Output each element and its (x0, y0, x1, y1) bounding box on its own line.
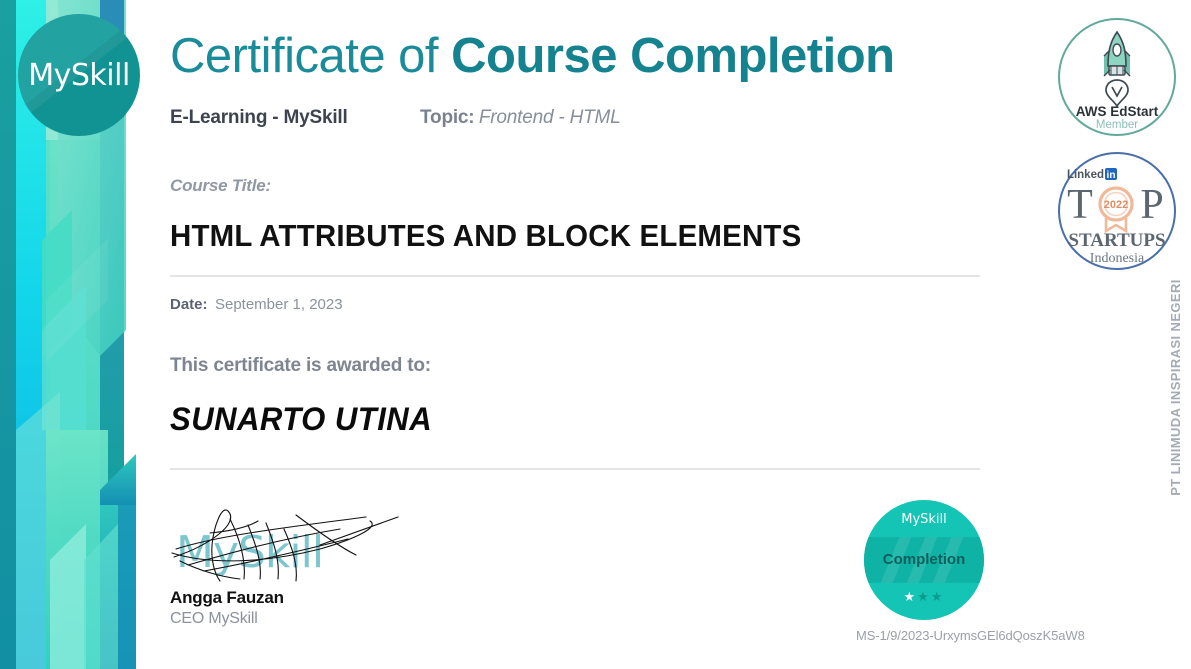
subtitle-row: E-Learning - MySkill Topic: Frontend - H… (170, 107, 621, 135)
myskill-logo: MySkill (18, 14, 140, 136)
seal-label: Completion (864, 551, 984, 568)
startups-word: STARTUPS (1068, 230, 1165, 251)
divider-upper (170, 275, 980, 277)
seal-brand: MySkill (864, 512, 984, 527)
course-title-label: Course Title: (170, 176, 271, 196)
linkedin-top-startups-badge: Linked in T P 2022 STARTUPS Indonesia (1058, 152, 1176, 270)
page-title: Certificate of Course Completion (170, 26, 895, 86)
awarded-to-label: This certificate is awarded to: (170, 355, 431, 377)
date-value: September 1, 2023 (215, 296, 343, 313)
certificate-canvas: MySkill Certificate of Course Completion… (0, 0, 1191, 669)
company-vertical-text: PT LINIMUDA INSPIRASI NEGERI (1161, 0, 1189, 669)
logo-text: MySkill (28, 58, 130, 93)
provider-label: E-Learning - MySkill (170, 107, 348, 128)
aws-edstart-badge: AWS EdStart Member (1058, 18, 1176, 136)
signature-block: MySkill (170, 505, 500, 628)
certificate-id: MS-1/9/2023-UrxymsGEl6dQoszK5aW8 (856, 628, 1106, 643)
rosette-year: 2022 (1104, 199, 1128, 211)
rocket-icon (1104, 32, 1130, 106)
date-row: Date: September 1, 2023 (170, 296, 343, 314)
svg-text:in: in (1107, 170, 1116, 181)
course-title-value: HTML ATTRIBUTES AND BLOCK ELEMENTS (170, 218, 801, 254)
completion-seal-wrap: MySkill Completion ★★★ MS-1/9/2023-Urxym… (856, 500, 1106, 643)
completion-seal: MySkill Completion ★★★ (864, 500, 984, 620)
star-empty-icon: ★ (917, 589, 931, 604)
page-title-bold: Course Completion (451, 29, 894, 83)
country-word: Indonesia (1090, 251, 1145, 266)
star-empty-icon: ★ (931, 589, 945, 604)
top-letter-t: T (1067, 182, 1093, 228)
star-filled-icon: ★ (904, 589, 918, 604)
topic-label: Topic: (420, 107, 474, 128)
signature-artwork: MySkill (170, 505, 430, 585)
company-name: PT LINIMUDA INSPIRASI NEGERI (1168, 279, 1183, 496)
seal-star-rating: ★★★ (864, 589, 984, 605)
linkedin-wordmark: Linked (1067, 169, 1104, 181)
date-label: Date: (170, 296, 208, 313)
recipient-name: SUNARTO UTINA (170, 401, 432, 438)
divider-lower (170, 468, 980, 470)
aws-badge-line1: AWS EdStart (1076, 104, 1159, 119)
signature-scribble-icon (170, 505, 430, 585)
signer-role: CEO MySkill (170, 610, 500, 628)
page-title-regular: Certificate of (170, 29, 451, 83)
certificate-body: Certificate of Course Completion E-Learn… (170, 0, 1050, 669)
signer-name: Angga Fauzan (170, 588, 500, 608)
topic-value: Frontend - HTML (479, 107, 621, 128)
aws-badge-line2: Member (1096, 119, 1138, 131)
